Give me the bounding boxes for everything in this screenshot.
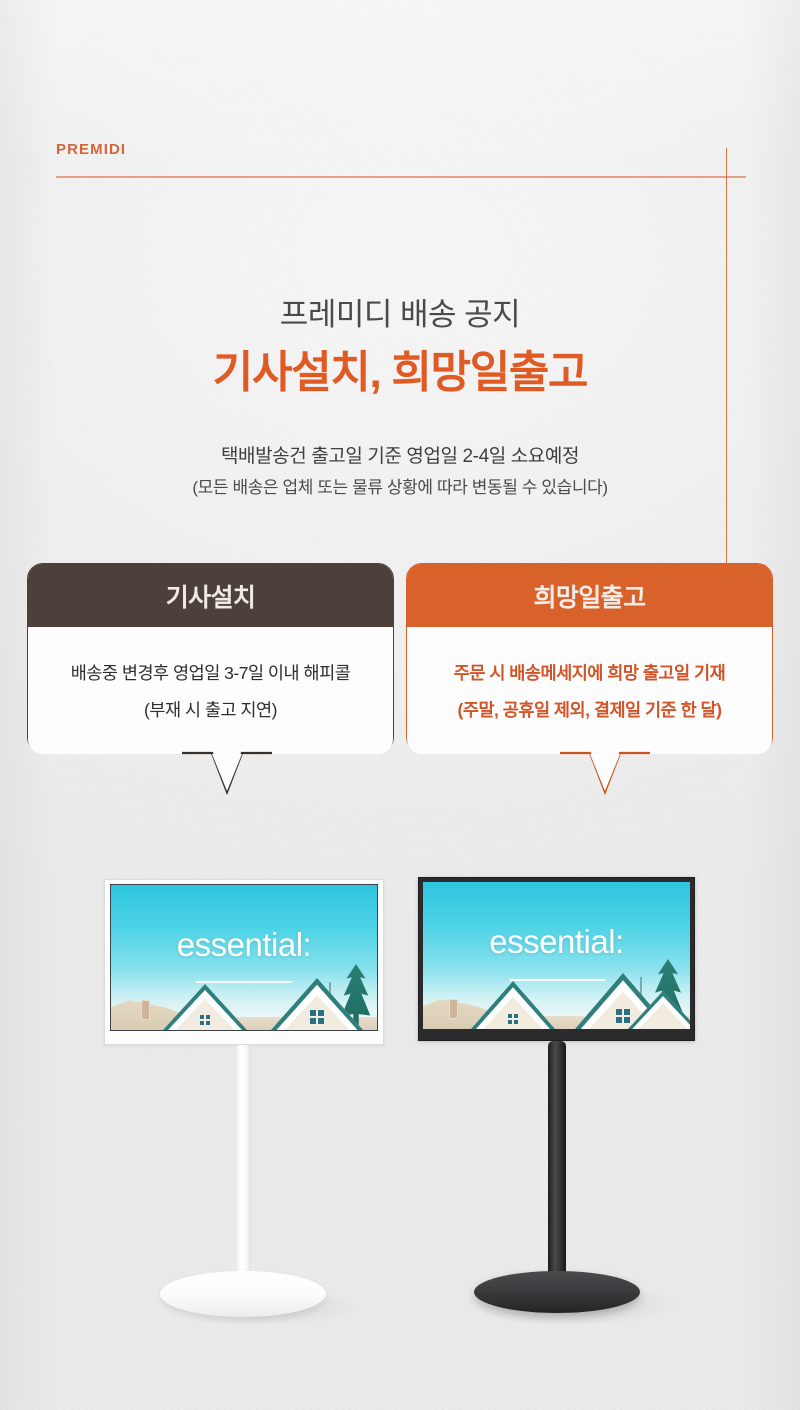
subtitle-block: 택배발송건 출고일 기준 영업일 2-4일 소요예정 (모든 배송은 업체 또는… xyxy=(0,440,800,504)
screen-house-right xyxy=(271,978,363,1030)
page-title: 기사설치, 희망일출고 xyxy=(0,347,800,399)
screen-house-far-right xyxy=(628,991,690,1029)
info-card-install-tail xyxy=(182,752,272,798)
subtitle-line-1: 택배발송건 출고일 기준 영업일 2-4일 소요예정 xyxy=(0,440,800,473)
info-card-desired: 희망일출고 주문 시 배송메세지에 희망 출고일 기재 (주말, 공휴일 제외,… xyxy=(406,563,773,753)
info-card-install-header: 기사설치 xyxy=(28,564,393,627)
house-window xyxy=(507,1013,519,1025)
info-card-install-line-1: 배송중 변경후 영업일 3-7일 이내 해피콜 xyxy=(71,660,351,685)
info-card-desired-tail xyxy=(560,752,650,798)
screen-brand-text: essential: xyxy=(423,923,690,961)
brand-logo: PREMIDI xyxy=(56,141,126,158)
product-monitor-white: essential: xyxy=(104,879,384,1329)
product-monitor-black: essential: xyxy=(418,877,698,1327)
house-window xyxy=(199,1014,211,1026)
white-monitor-base xyxy=(160,1271,326,1317)
screen-brand-text: essential: xyxy=(111,926,377,964)
screen-brand-underline xyxy=(509,979,605,981)
house-window xyxy=(309,1009,325,1025)
black-monitor-screen: essential: xyxy=(423,882,690,1029)
screen-chimney xyxy=(449,999,458,1019)
white-monitor-screen: essential: xyxy=(110,884,378,1031)
black-monitor-base xyxy=(474,1271,640,1313)
page-eyebrow: 프레미디 배송 공지 xyxy=(0,296,800,335)
header-horizontal-rule xyxy=(56,176,746,178)
info-card-desired-line-2: (주말, 공휴일 제외, 결제일 기준 한 달) xyxy=(458,697,722,722)
info-card-install-line-2: (부재 시 출고 지연) xyxy=(144,697,277,722)
info-card-desired-line-1: 주문 시 배송메세지에 희망 출고일 기재 xyxy=(454,660,725,685)
info-card-desired-header: 희망일출고 xyxy=(407,564,772,627)
screen-house-left xyxy=(163,984,247,1030)
title-block: 프레미디 배송 공지 기사설치, 희망일출고 xyxy=(0,296,800,399)
white-monitor-neck xyxy=(235,1045,251,1285)
black-monitor-neck xyxy=(548,1041,566,1287)
screen-brand-underline xyxy=(196,981,292,983)
screen-chimney xyxy=(141,1000,150,1020)
info-card-install-body: 배송중 변경후 영업일 3-7일 이내 해피콜 (부재 시 출고 지연) xyxy=(28,627,393,754)
subtitle-line-2: (모든 배송은 업체 또는 물류 상황에 따라 변동될 수 있습니다) xyxy=(0,473,800,504)
screen-house-left xyxy=(471,981,555,1029)
info-card-desired-body: 주문 시 배송메세지에 희망 출고일 기재 (주말, 공휴일 제외, 결제일 기… xyxy=(407,627,772,754)
info-card-install: 기사설치 배송중 변경후 영업일 3-7일 이내 해피콜 (부재 시 출고 지연… xyxy=(27,563,394,753)
